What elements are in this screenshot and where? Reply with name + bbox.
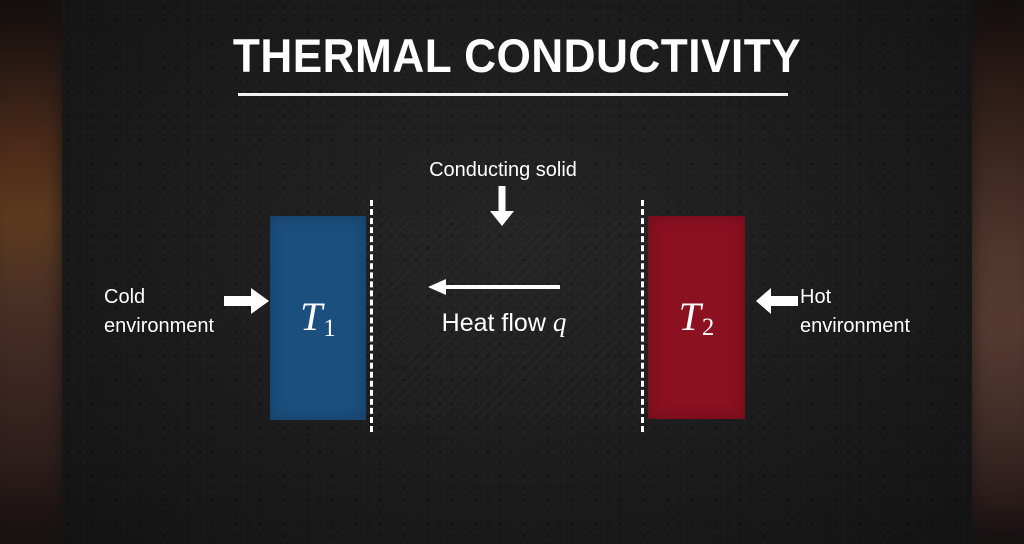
right-letterbox-blur — [968, 0, 1024, 544]
hot-temperature-label: T2 — [679, 293, 715, 342]
cold-temperature-block: T1 — [270, 216, 366, 420]
right-boundary-dashed-line — [641, 200, 644, 432]
conducting-solid-label: Conducting solid — [383, 156, 623, 185]
hot-temperature-subscript: 2 — [702, 314, 714, 341]
hot-temperature-block: T2 — [648, 216, 745, 419]
hot-environment-label: Hot environment — [800, 283, 945, 341]
slide-canvas: THERMAL CONDUCTIVITY T1 T2 Conducting so… — [0, 0, 1024, 544]
cold-temperature-subscript: 1 — [323, 315, 335, 342]
arrow-left-icon — [756, 288, 798, 319]
page-title: THERMAL CONDUCTIVITY — [89, 28, 944, 83]
heat-flow-text: Heat flow — [442, 309, 553, 337]
heat-flow-label: Heat flow q — [398, 308, 610, 338]
left-boundary-dashed-line — [370, 200, 373, 432]
cold-environment-label: Cold environment — [104, 283, 224, 341]
cold-temperature-label: T1 — [300, 293, 336, 342]
title-underline-rule — [238, 93, 788, 96]
arrow-down-icon — [487, 186, 517, 231]
heat-flow-symbol: q — [553, 307, 567, 337]
arrow-right-icon — [224, 288, 269, 319]
left-letterbox-blur — [0, 0, 64, 544]
arrow-left-icon — [428, 278, 560, 301]
